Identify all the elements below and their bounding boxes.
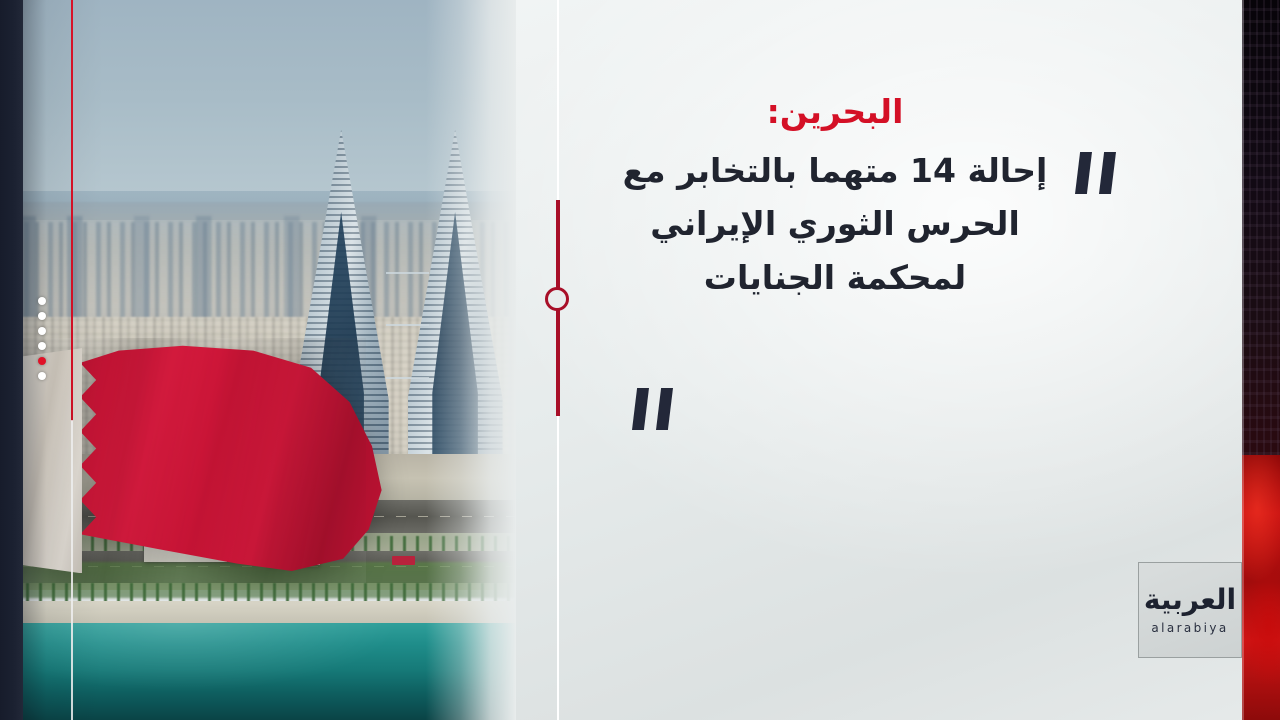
quote-bar-1: [1075, 152, 1092, 194]
dot-indicator-column: [38, 297, 46, 380]
headline-text: إحالة 14 متهما بالتخابر مع الحرس الثوري …: [600, 144, 1070, 304]
right-strip-red-section: [1242, 455, 1280, 720]
alarabiya-logo: العربية alarabiya: [1138, 562, 1242, 658]
quote-mark-open-icon: [1075, 152, 1127, 194]
logo-arabic-wordmark: العربية: [1144, 586, 1236, 614]
country-kicker: البحرين:: [600, 92, 1070, 132]
dot-4: [38, 342, 46, 350]
center-divider-node-circle: [545, 287, 569, 311]
logo-latin-wordmark: alarabiya: [1151, 622, 1228, 634]
dot-3: [38, 327, 46, 335]
photo-right-fade: [426, 0, 516, 720]
quote-bar-3: [632, 388, 649, 430]
quote-bar-4: [656, 388, 673, 430]
quote-bar-2: [1099, 152, 1116, 194]
right-strip-dark-section: [1242, 0, 1280, 455]
broadcast-news-graphic: البحرين: إحالة 14 متهما بالتخابر مع الحر…: [0, 0, 1280, 720]
right-edge-texture-strip: [1242, 0, 1280, 720]
dot-2: [38, 312, 46, 320]
bahrain-photo: [0, 0, 516, 720]
left-edge-band: [0, 0, 23, 720]
left-vertical-rule: [71, 0, 73, 720]
dot-6: [38, 372, 46, 380]
dot-1: [38, 297, 46, 305]
dot-5-active: [38, 357, 46, 365]
headline-block: البحرين: إحالة 14 متهما بالتخابر مع الحر…: [600, 92, 1070, 304]
quote-mark-close-icon: [632, 388, 684, 430]
right-strip-highlight-edge: [1242, 0, 1244, 720]
photo-content: [0, 0, 516, 720]
